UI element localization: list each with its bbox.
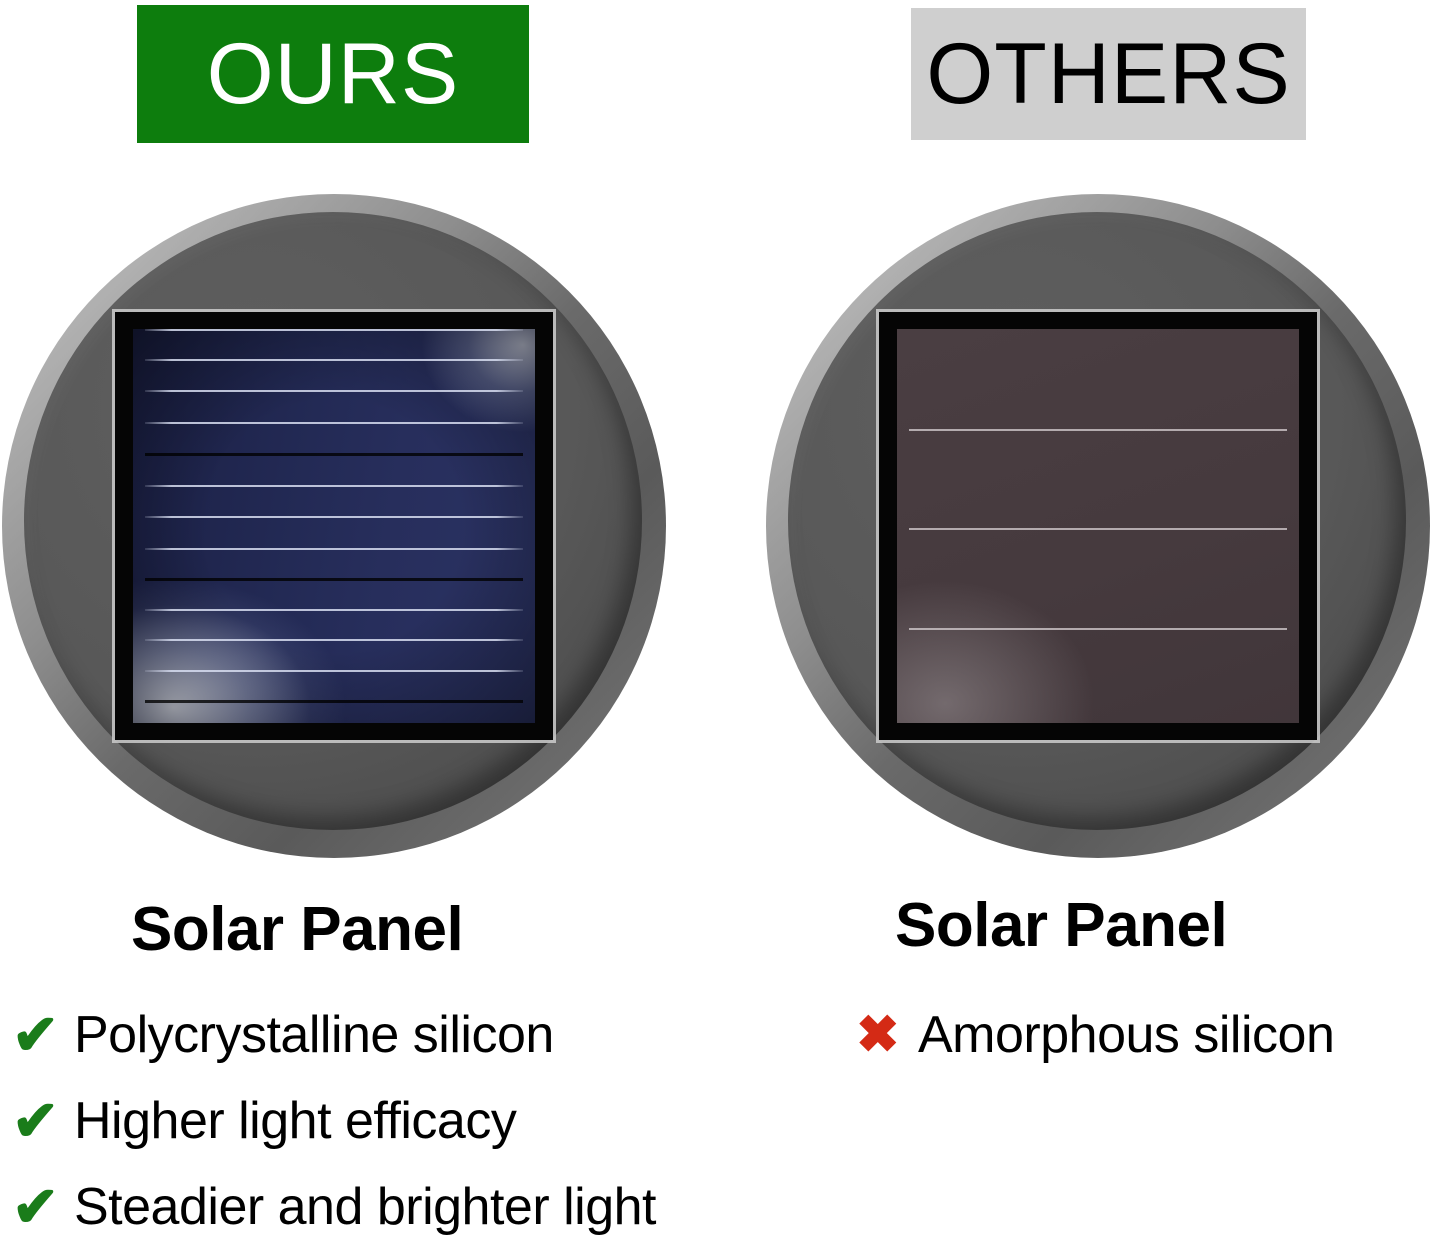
cell-divider-line	[145, 453, 523, 456]
solar-panel-others	[879, 312, 1317, 740]
feature-item: ✔ Higher light efficacy	[12, 1078, 656, 1164]
cross-icon: ✖	[856, 1009, 918, 1061]
busbar-line	[145, 329, 523, 331]
check-icon: ✔	[12, 1007, 74, 1063]
solar-lamp-disc-others	[766, 194, 1430, 858]
solar-panel-ours	[115, 312, 553, 740]
busbar-line	[145, 422, 523, 424]
badge-ours: OURS	[137, 5, 529, 143]
feature-item: ✔ Polycrystalline silicon	[12, 992, 656, 1078]
feature-label: Higher light efficacy	[74, 1091, 516, 1151]
cell-divider-line	[145, 578, 523, 581]
busbar-line	[145, 670, 523, 672]
feature-item: ✖ Amorphous silicon	[856, 992, 1334, 1078]
busbar-line	[145, 516, 523, 518]
product-caption-ours: Solar Panel	[131, 894, 463, 965]
check-icon: ✔	[12, 1179, 74, 1235]
cell-divider-line	[145, 700, 523, 703]
feature-label: Polycrystalline silicon	[74, 1005, 554, 1065]
check-icon: ✔	[12, 1093, 74, 1149]
solar-lamp-disc-ours	[2, 194, 666, 858]
busbar-line	[145, 639, 523, 641]
busbar-line	[145, 359, 523, 361]
feature-list-others: ✖ Amorphous silicon	[856, 992, 1334, 1078]
busbar-line	[145, 548, 523, 550]
solar-panel-cells-ours	[133, 329, 535, 723]
badge-others: OTHERS	[911, 8, 1306, 140]
product-caption-others: Solar Panel	[895, 890, 1227, 961]
busbar-line	[909, 628, 1287, 630]
solar-panel-cells-others	[897, 329, 1299, 723]
busbar-line	[145, 485, 523, 487]
feature-label: Amorphous silicon	[918, 1005, 1334, 1065]
feature-item: ✔ Steadier and brighter light	[12, 1164, 656, 1250]
busbar-line	[145, 609, 523, 611]
busbar-line	[909, 528, 1287, 530]
busbar-line	[145, 390, 523, 392]
feature-label: Steadier and brighter light	[74, 1177, 656, 1237]
busbar-line	[909, 429, 1287, 431]
amorphous-cell-surface	[897, 329, 1299, 723]
feature-list-ours: ✔ Polycrystalline silicon ✔ Higher light…	[12, 992, 656, 1250]
polycrystalline-cell-surface	[133, 329, 535, 723]
